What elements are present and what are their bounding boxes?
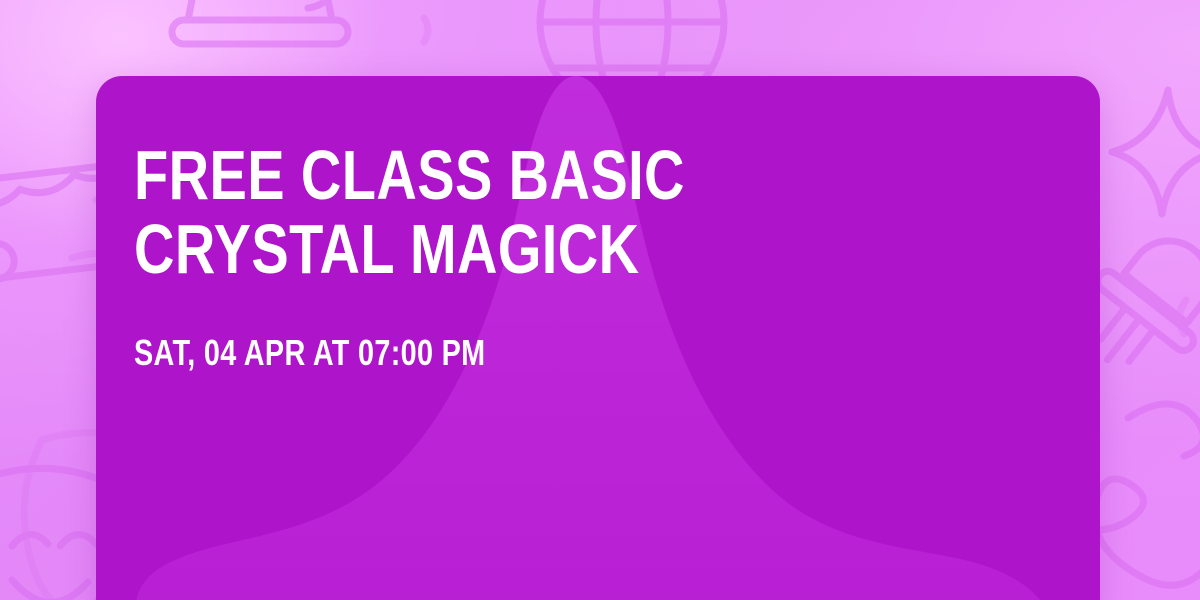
sparkle-star-icon [1112,90,1200,214]
popcorn-icon [172,0,348,44]
event-banner: FREE CLASS BASIC CRYSTAL MAGICK SAT, 04 … [0,0,1200,600]
card-content: FREE CLASS BASIC CRYSTAL MAGICK SAT, 04 … [134,138,934,374]
event-title: FREE CLASS BASIC CRYSTAL MAGICK [134,138,934,286]
event-card[interactable]: FREE CLASS BASIC CRYSTAL MAGICK SAT, 04 … [96,76,1100,600]
event-datetime: SAT, 04 APR AT 07:00 PM [134,332,854,374]
